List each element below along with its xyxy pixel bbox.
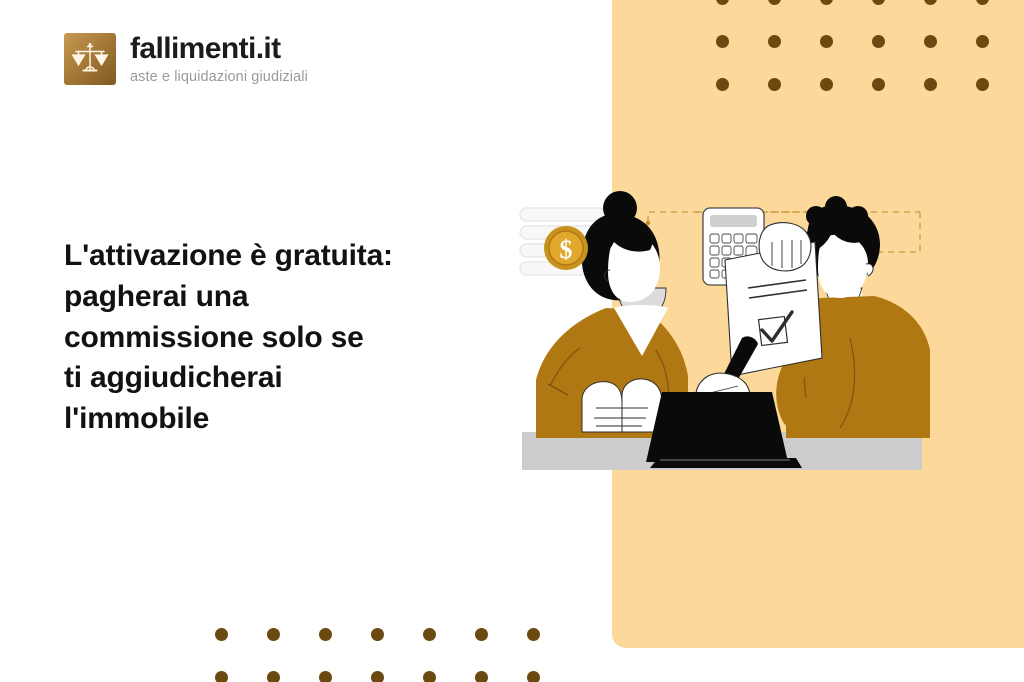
decor-dot — [319, 628, 332, 641]
decor-dot — [267, 628, 280, 641]
decor-dot — [820, 0, 833, 5]
decor-dot — [924, 0, 937, 5]
decor-dot — [924, 35, 937, 48]
brand-text: fallimenti.it aste e liquidazioni giudiz… — [130, 34, 308, 85]
brand-tagline: aste e liquidazioni giudiziali — [130, 70, 308, 85]
decor-dot — [475, 628, 488, 641]
decor-dot — [976, 78, 989, 91]
decor-dot — [716, 78, 729, 91]
decor-dot — [716, 35, 729, 48]
decor-dot — [423, 628, 436, 641]
decor-dot — [371, 671, 384, 682]
scales-of-justice-icon — [64, 33, 116, 85]
decor-dot — [319, 671, 332, 682]
decor-dot — [527, 671, 540, 682]
dollar-coin-icon: $ — [544, 226, 588, 270]
brand-name: fallimenti.it — [130, 34, 308, 64]
decor-dot — [820, 35, 833, 48]
banner-canvas: fallimenti.it aste e liquidazioni giudiz… — [0, 0, 1024, 682]
decor-dot — [371, 628, 384, 641]
decor-dot — [475, 671, 488, 682]
dot-grid-top-right — [716, 0, 1024, 91]
page-headline: L'attivazione è gratuita: pagherai una c… — [64, 236, 484, 440]
decor-dot — [527, 628, 540, 641]
hair-bun — [603, 191, 637, 225]
decor-dot — [872, 78, 885, 91]
decor-dot — [267, 671, 280, 682]
decor-dot — [924, 78, 937, 91]
dashed-endpoint-dot — [646, 221, 650, 225]
decor-dot — [872, 0, 885, 5]
decor-dot — [716, 0, 729, 5]
decor-dot — [423, 671, 436, 682]
decor-dot — [215, 671, 228, 682]
decor-dot — [768, 78, 781, 91]
decor-dot — [768, 0, 781, 5]
decor-dot — [820, 78, 833, 91]
decor-dot — [976, 0, 989, 5]
two-people-signing-contract-illustration: $ — [510, 180, 930, 480]
decor-dot — [215, 628, 228, 641]
decor-dot — [768, 35, 781, 48]
brand-logo[interactable]: fallimenti.it aste e liquidazioni giudiz… — [64, 33, 308, 85]
dot-grid-bottom-left — [215, 628, 540, 682]
coin-symbol: $ — [560, 235, 573, 264]
holding-hand — [759, 223, 811, 271]
decor-dot — [872, 35, 885, 48]
decor-dot — [976, 35, 989, 48]
